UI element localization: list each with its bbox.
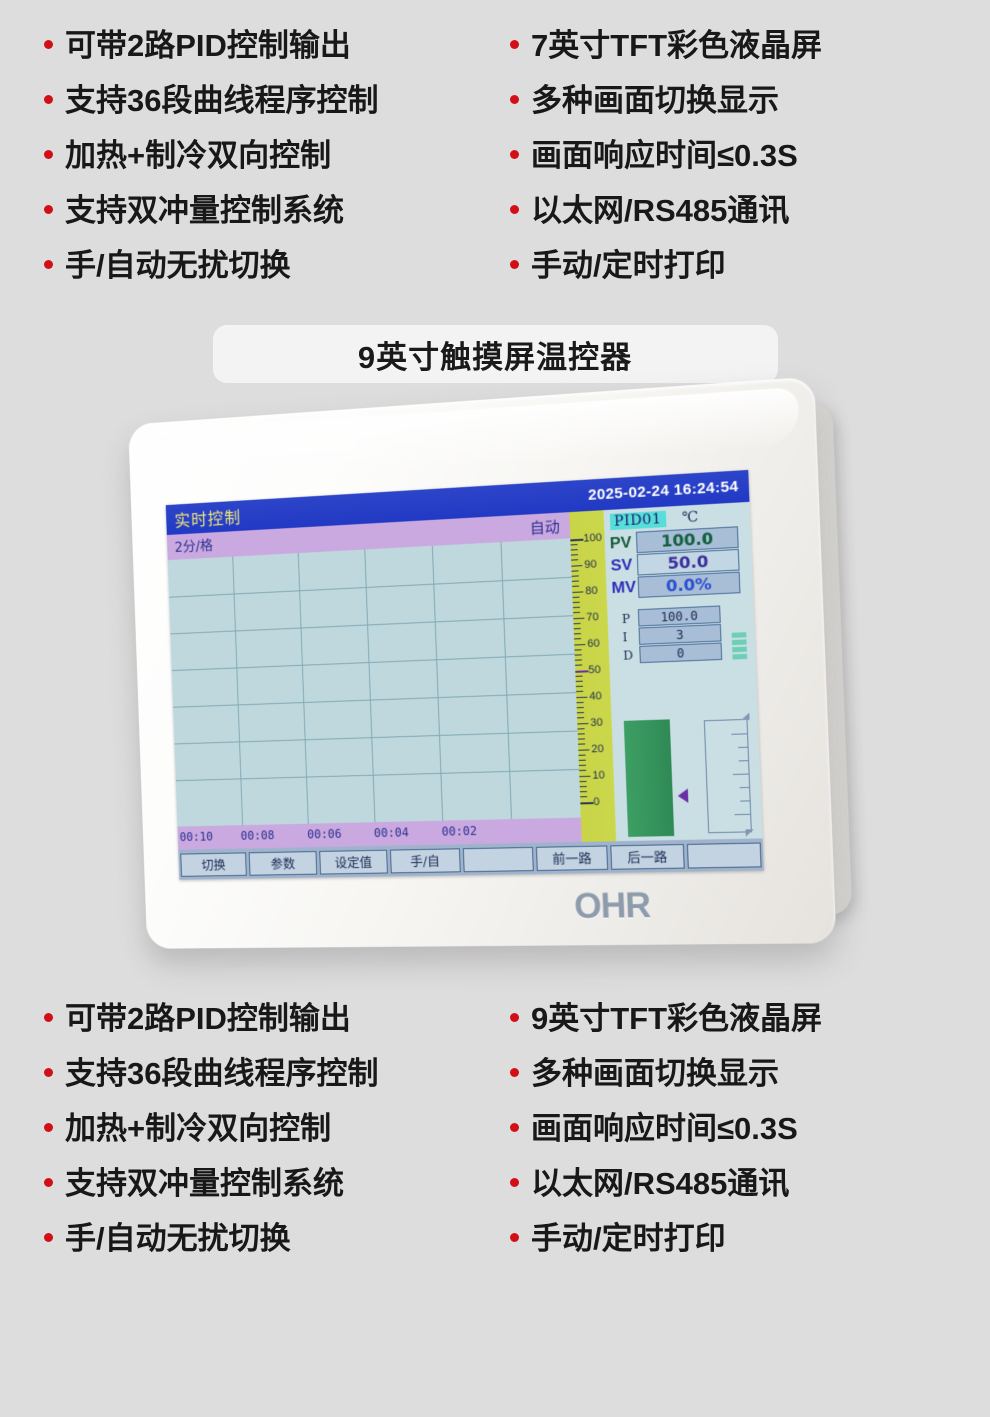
list-item: 以太网/RS485通讯: [510, 1166, 980, 1221]
x-tick-label: 00:06: [307, 827, 342, 841]
scale-tick-minor: [580, 791, 587, 792]
grid-line-vertical: [501, 542, 512, 819]
list-item: 支持双冲量控制系统: [44, 1166, 510, 1221]
trend-plot-area[interactable]: [168, 538, 581, 826]
panel-header: PID01 ℃: [604, 505, 751, 533]
scale-tick-minor: [577, 707, 584, 708]
bullet-dot-icon: [510, 95, 519, 104]
channel-tag[interactable]: PID01: [610, 511, 666, 530]
screen-button-manauto[interactable]: 手/自: [390, 848, 460, 873]
x-tick-label: 00:04: [374, 825, 409, 840]
y-tick-label: 90: [584, 558, 597, 571]
bullet-dot-icon: [510, 40, 519, 49]
feature-label: 支持36段曲线程序控制: [65, 1056, 378, 1092]
readout-key: PV: [610, 533, 637, 553]
scale-tick-minor: [574, 633, 581, 634]
pid-param-value[interactable]: 3: [639, 624, 722, 645]
list-item: 支持36段曲线程序控制: [44, 83, 510, 138]
readout-key: SV: [610, 556, 637, 576]
list-item: 手/自动无扰切换: [44, 248, 510, 303]
pid-param-key: D: [623, 647, 640, 662]
feature-label: 加热+制冷双向控制: [65, 138, 331, 174]
secondary-bar-scale: [704, 719, 752, 833]
x-tick-label: 00:02: [441, 824, 477, 839]
feature-label: 多种画面切换显示: [531, 83, 779, 119]
mode-label: 自动: [529, 515, 560, 538]
scale-tick: [579, 776, 590, 777]
scale-tick-minor: [575, 654, 582, 655]
list-item: 支持双冲量控制系统: [44, 193, 510, 248]
scale-tick-minor: [578, 738, 585, 739]
scale-tick-minor: [578, 733, 585, 734]
scale-tick-minor: [580, 796, 587, 797]
scale-tick-minor: [579, 755, 586, 756]
scale-tick-minor: [577, 728, 584, 729]
list-item: 9英寸TFT彩色液晶屏: [510, 1001, 980, 1056]
bullet-dot-icon: [44, 260, 53, 269]
list-item: 多种画面切换显示: [510, 1056, 980, 1111]
status-led-icon: [732, 654, 747, 660]
timebase-label: 2分/格: [174, 535, 213, 556]
feature-label: 可带2路PID控制输出: [65, 1001, 351, 1037]
bullet-dot-icon: [510, 150, 519, 159]
bar-cap-top-icon: [741, 713, 750, 720]
scale-tick-minor: [573, 623, 580, 624]
list-item: 加热+制冷双向控制: [44, 138, 510, 193]
scale-tick-minor: [572, 575, 579, 576]
feature-label: 手动/定时打印: [531, 248, 726, 284]
y-tick-label: 40: [589, 690, 602, 703]
scale-tick-minor: [575, 676, 582, 677]
x-tick-label: 00:10: [179, 830, 213, 844]
pid-param-value[interactable]: 0: [639, 642, 722, 663]
bullet-dot-icon: [510, 260, 519, 269]
level-pointer-icon: [678, 789, 689, 804]
scale-tick-minor: [574, 649, 581, 650]
scale-tick: [578, 749, 589, 750]
y-tick-label: 50: [588, 664, 601, 677]
readout-row-sv: SV 50.0: [610, 548, 752, 577]
scale-tick: [572, 591, 583, 593]
feature-list-top: 可带2路PID控制输出 支持36段曲线程序控制 加热+制冷双向控制 支持双冲量控…: [0, 0, 990, 303]
feature-label: 9英寸TFT彩色液晶屏: [531, 1001, 822, 1037]
unit-label: ℃: [682, 509, 699, 526]
scale-tick-minor: [570, 544, 577, 545]
scale-tick-minor: [573, 602, 580, 603]
feature-column-left: 可带2路PID控制输出 支持36段曲线程序控制 加热+制冷双向控制 支持双冲量控…: [44, 28, 510, 303]
pid-param-value[interactable]: 100.0: [638, 605, 721, 626]
chart-column: 2分/格 自动: [167, 512, 582, 850]
bar-tick: [731, 733, 747, 735]
bezel-gloss-highlight: [143, 387, 800, 486]
status-led-icon: [732, 632, 747, 638]
pid-param-row-i: I 3: [622, 623, 755, 646]
bullet-dot-icon: [44, 1013, 53, 1022]
bar-tick: [733, 774, 749, 775]
device-bezel: 实时控制 2025-02-24 16:24:54 2分/格 自动: [128, 376, 836, 948]
feature-label: 多种画面切换显示: [531, 1056, 779, 1092]
list-item: 画面响应时间≤0.3S: [510, 138, 980, 193]
list-item: 加热+制冷双向控制: [44, 1111, 510, 1166]
scale-tick-minor: [576, 686, 583, 687]
feature-label: 以太网/RS485通讯: [531, 1166, 789, 1202]
feature-label: 手/自动无扰切换: [65, 248, 291, 284]
status-led-icon: [732, 639, 747, 645]
screen-button-prev-channel[interactable]: 前一路: [536, 845, 609, 871]
scale-tick: [574, 644, 585, 645]
readout-row-pv: PV 100.0: [609, 526, 751, 555]
bullet-dot-icon: [510, 1068, 519, 1077]
scale-tick-minor: [572, 597, 579, 598]
output-level-bar: [624, 719, 674, 837]
scale-tick: [571, 565, 582, 567]
y-tick-label: 10: [592, 769, 605, 782]
feature-label: 以太网/RS485通讯: [531, 193, 789, 229]
screen-button-blank-2[interactable]: [686, 842, 761, 868]
scale-tick-minor: [575, 659, 582, 660]
y-tick-label: 70: [586, 611, 599, 624]
status-led-group: [732, 632, 748, 659]
scale-tick-minor: [579, 760, 586, 761]
readout-value: 100.0: [636, 526, 739, 553]
scale-tick-minor: [574, 628, 581, 629]
screen-button-blank-1[interactable]: [462, 846, 533, 871]
feature-label: 支持双冲量控制系统: [65, 1166, 344, 1202]
bullet-dot-icon: [510, 1123, 519, 1132]
scale-tick: [570, 539, 583, 542]
bullet-dot-icon: [510, 1178, 519, 1187]
y-tick-label: 30: [590, 717, 603, 730]
readout-row-mv: MV 0.0%: [611, 571, 753, 599]
y-tick-label: 80: [585, 585, 598, 598]
grid-line-horizontal: [169, 577, 572, 598]
feature-column-right: 7英寸TFT彩色液晶屏 多种画面切换显示 画面响应时间≤0.3S 以太网/RS4…: [510, 28, 980, 303]
grid-line-horizontal: [172, 654, 575, 671]
screen-button-params[interactable]: 参数: [249, 851, 317, 876]
feature-label: 支持36段曲线程序控制: [65, 83, 378, 119]
feature-list-bottom: 可带2路PID控制输出 支持36段曲线程序控制 加热+制冷双向控制 支持双冲量控…: [0, 993, 990, 1276]
list-item: 支持36段曲线程序控制: [44, 1056, 510, 1111]
bullet-dot-icon: [44, 1178, 53, 1187]
scale-tick-minor: [574, 638, 581, 639]
bar-tick: [740, 787, 749, 788]
pid-parameter-group: P 100.0 I 3 D 0: [622, 604, 756, 664]
scale-tick-minor: [571, 554, 578, 555]
scale-tick: [576, 697, 587, 698]
page-title: 9英寸触摸屏温控器: [358, 332, 632, 377]
feature-label: 可带2路PID控制输出: [65, 28, 351, 64]
scale-tick-minor: [579, 770, 586, 771]
list-item: 画面响应时间≤0.3S: [510, 1111, 980, 1166]
scale-tick-minor: [572, 586, 579, 587]
list-item: 多种画面切换显示: [510, 83, 980, 138]
grid-line-vertical: [432, 546, 443, 821]
bullet-dot-icon: [510, 1233, 519, 1242]
bar-tick: [740, 800, 749, 801]
brand-logo: OHR: [573, 886, 650, 928]
scale-tick-minor: [572, 580, 579, 581]
scale-tick-minor: [578, 743, 585, 744]
list-item: 手动/定时打印: [510, 248, 980, 303]
y-tick-label: 60: [587, 637, 600, 650]
list-item: 可带2路PID控制输出: [44, 28, 510, 83]
grid-line-vertical: [232, 557, 243, 826]
y-tick-label: 20: [591, 743, 604, 756]
scale-tick-minor: [576, 702, 583, 703]
feature-label: 手/自动无扰切换: [65, 1221, 291, 1257]
grid-line-horizontal: [173, 692, 576, 708]
pid-param-key: P: [622, 611, 639, 626]
lcd-screen[interactable]: 实时控制 2025-02-24 16:24:54 2分/格 自动: [166, 470, 764, 880]
status-led-icon: [732, 647, 747, 653]
bullet-dot-icon: [44, 1068, 53, 1077]
list-item: 7英寸TFT彩色液晶屏: [510, 28, 980, 83]
scale-tick-minor: [573, 612, 580, 613]
feature-column-right: 9英寸TFT彩色液晶屏 多种画面切换显示 画面响应时间≤0.3S 以太网/RS4…: [510, 1001, 980, 1276]
feature-label: 手动/定时打印: [531, 1221, 726, 1257]
bullet-dot-icon: [510, 1013, 519, 1022]
scale-tick-minor: [576, 691, 583, 692]
scale-tick-minor: [580, 781, 587, 782]
screen-body: 2分/格 自动: [167, 502, 763, 850]
bullet-dot-icon: [44, 150, 53, 159]
grid-line-horizontal: [170, 615, 573, 634]
product-title-banner: 9英寸触摸屏温控器: [213, 325, 778, 383]
scale-tick: [577, 723, 588, 724]
bar-tick: [734, 814, 750, 815]
bullet-dot-icon: [44, 1123, 53, 1132]
bar-tick: [739, 760, 748, 761]
bullet-dot-icon: [510, 205, 519, 214]
scale-tick-minor: [576, 681, 583, 682]
feature-label: 加热+制冷双向控制: [65, 1111, 331, 1147]
sv-setpoint-marker: [575, 670, 588, 673]
grid-line-horizontal: [174, 731, 577, 745]
bar-cap-bottom-icon: [746, 829, 755, 836]
readout-value[interactable]: 50.0: [637, 549, 740, 576]
readout-value: 0.0%: [638, 572, 741, 598]
x-tick-label: 00:08: [240, 828, 274, 842]
scale-tick-minor: [573, 607, 580, 608]
scale-tick-minor: [577, 717, 584, 718]
pid-info-panel: PID01 ℃ PV 100.0 SV 50.0 MV: [603, 502, 762, 841]
list-item: 手/自动无扰切换: [44, 1221, 510, 1276]
scale-tick-minor: [577, 712, 584, 713]
bullet-dot-icon: [44, 1233, 53, 1242]
pid-param-row-p: P 100.0: [622, 604, 755, 627]
list-item: 以太网/RS485通讯: [510, 193, 980, 248]
readout-key: MV: [611, 578, 638, 598]
screen-datetime: 2025-02-24 16:24:54: [588, 478, 739, 504]
feature-column-left: 可带2路PID控制输出 支持36段曲线程序控制 加热+制冷双向控制 支持双冲量控…: [44, 1001, 510, 1276]
grid-line-vertical: [298, 553, 309, 824]
grid-line-horizontal: [176, 769, 579, 781]
bullet-dot-icon: [44, 40, 53, 49]
list-item: 可带2路PID控制输出: [44, 1001, 510, 1056]
screen-title: 实时控制: [174, 504, 241, 532]
vertical-scale-strip: 100 90 80 70 60 50 40 30: [569, 510, 616, 842]
temperature-controller-device: 实时控制 2025-02-24 16:24:54 2分/格 自动: [128, 376, 836, 948]
scale-tick-minor: [571, 549, 578, 550]
bullet-dot-icon: [44, 95, 53, 104]
feature-label: 7英寸TFT彩色液晶屏: [531, 28, 822, 64]
pid-param-row-d: D 0: [623, 641, 756, 664]
y-tick-label: 0: [593, 796, 600, 808]
output-bar-area: [624, 717, 758, 837]
scale-tick-minor: [571, 570, 578, 571]
scale-tick: [573, 618, 584, 620]
list-item: 手动/定时打印: [510, 1221, 980, 1276]
scale-tick: [580, 802, 593, 804]
pid-param-key: I: [622, 629, 639, 644]
feature-label: 画面响应时间≤0.3S: [531, 138, 798, 174]
feature-label: 支持双冲量控制系统: [65, 193, 344, 229]
screen-button-switch[interactable]: 切换: [180, 852, 247, 876]
grid-line-vertical: [364, 549, 375, 822]
scale-tick-minor: [580, 786, 587, 787]
y-tick-label: 100: [583, 532, 602, 545]
scale-tick-minor: [579, 765, 586, 766]
scale-tick-minor: [571, 559, 578, 560]
title-banner-wrap: 9英寸触摸屏温控器: [0, 325, 990, 383]
screen-button-setpoint[interactable]: 设定值: [319, 849, 388, 874]
bullet-dot-icon: [44, 205, 53, 214]
device-stage: 实时控制 2025-02-24 16:24:54 2分/格 自动: [0, 393, 990, 993]
bar-tick: [738, 747, 747, 748]
scale-tick-minor: [575, 664, 582, 665]
screen-button-next-channel[interactable]: 后一路: [610, 843, 684, 869]
feature-label: 画面响应时间≤0.3S: [531, 1111, 798, 1147]
